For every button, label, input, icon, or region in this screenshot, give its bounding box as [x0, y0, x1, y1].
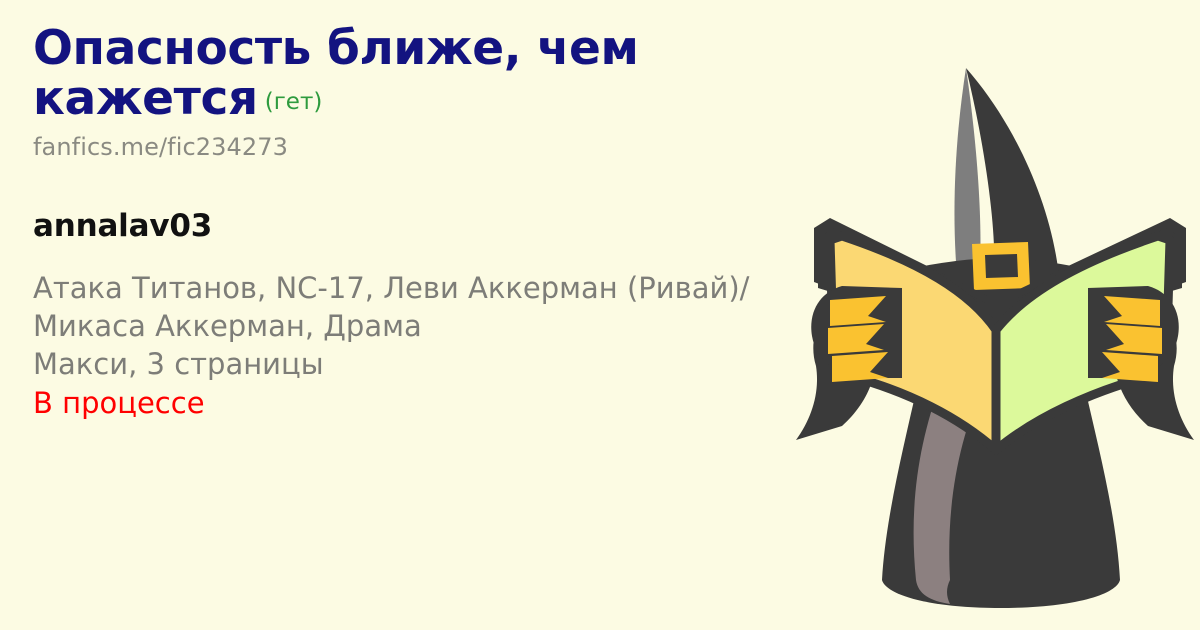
status-badge: В процессе: [33, 384, 823, 422]
story-url[interactable]: fanfics.me/fic234273: [33, 133, 823, 161]
witch-right-hand-icon: [1088, 286, 1194, 440]
meta-size-line: Макси, 3 страницы: [33, 345, 823, 383]
meta-fandom-line: Атака Титанов, NC-17, Леви Аккерман (Рив…: [33, 269, 818, 346]
author-name[interactable]: annalav03: [33, 208, 823, 244]
hat-buckle-icon: [972, 242, 1030, 290]
witch-illustration-svg: [790, 0, 1200, 630]
story-info-column: Опасность ближе, чем кажется(гет) fanfic…: [33, 24, 823, 423]
story-meta-block: Атака Титанов, NC-17, Леви Аккерман (Рив…: [33, 269, 823, 423]
fanfics-preview-card: Опасность ближе, чем кажется(гет) fanfic…: [0, 0, 1200, 630]
story-category-badge: (гет): [265, 89, 323, 115]
page-title: Опасность ближе, чем кажется: [33, 21, 639, 126]
witch-left-hand-icon: [796, 286, 902, 440]
title-line: Опасность ближе, чем кажется(гет): [33, 24, 823, 124]
witch-reading-book-illustration: [790, 0, 1200, 630]
